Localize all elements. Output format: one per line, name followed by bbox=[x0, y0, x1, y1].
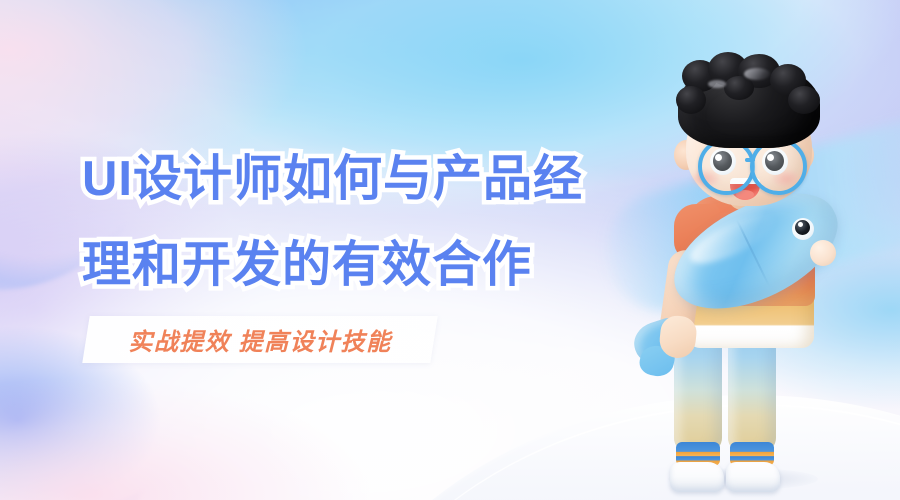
headline-line-2: 理和开发的有效合作 bbox=[82, 222, 642, 308]
character-illustration bbox=[612, 28, 888, 480]
character-shoe-left bbox=[670, 462, 724, 492]
plush-fish-eye-glint bbox=[798, 222, 803, 227]
character-hair-curl bbox=[676, 86, 706, 114]
plush-fish-snout bbox=[810, 240, 836, 266]
headline: UI设计师如何与产品经 理和开发的有效合作 bbox=[82, 136, 642, 308]
headline-line-1: UI设计师如何与产品经 bbox=[82, 136, 642, 222]
glasses-bridge bbox=[745, 158, 755, 162]
promo-banner: UI设计师如何与产品经 理和开发的有效合作 实战提效 提高设计技能 bbox=[0, 0, 900, 500]
character-hair-curl bbox=[724, 76, 754, 100]
character-hair-curl bbox=[788, 86, 820, 114]
subtitle-plate: 实战提效 提高设计技能 bbox=[82, 316, 437, 363]
character-hair-highlight-secondary bbox=[708, 80, 726, 88]
character-shoe-right bbox=[726, 462, 780, 492]
subtitle-text: 实战提效 提高设计技能 bbox=[86, 316, 434, 363]
character-hair-highlight bbox=[744, 68, 770, 80]
